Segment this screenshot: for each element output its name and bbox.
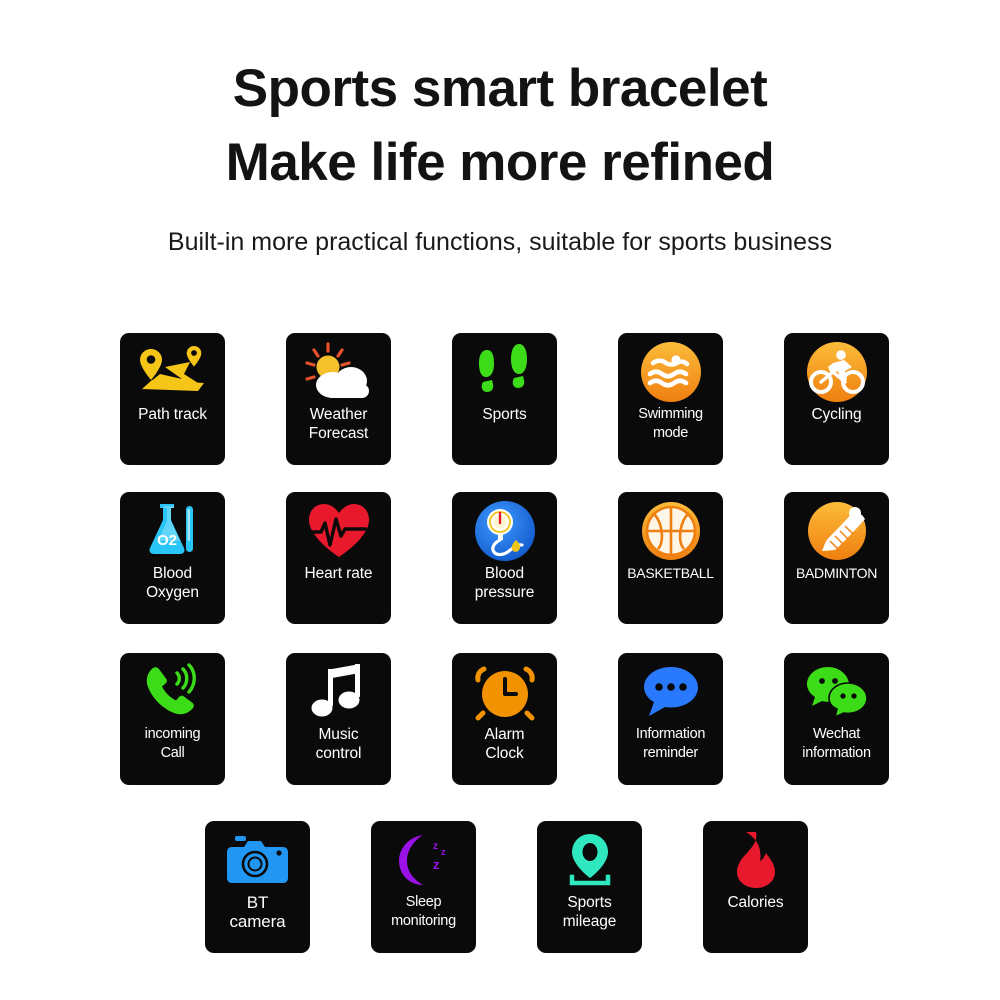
music-note-icon [286, 653, 391, 725]
tile-label: BADMINTON [784, 564, 889, 583]
tile-label-line2: control [286, 744, 391, 763]
tile-label: Blood [120, 564, 225, 583]
tile-sports[interactable]: Sports [452, 333, 557, 465]
tile-label-line2: Forecast [286, 424, 391, 443]
alarm-clock-icon [452, 653, 557, 725]
tile-label-line2: camera [205, 912, 310, 931]
tile-label-line2: Oxygen [120, 583, 225, 602]
tile-label: BASKETBALL [618, 564, 723, 583]
flame-icon [703, 821, 808, 893]
sun-cloud-icon [286, 333, 391, 405]
tile-label-line2: Call [120, 744, 225, 763]
tile-incoming-call[interactable]: incoming Call [120, 653, 225, 785]
tile-sports-mileage[interactable]: Sports mileage [537, 821, 642, 953]
tile-label: Weather [286, 405, 391, 424]
heart-pulse-icon [286, 492, 391, 564]
svg-text:z: z [441, 847, 446, 857]
tile-wechat-information[interactable]: Wechat information [784, 653, 889, 785]
tile-path-track[interactable]: Path track [120, 333, 225, 465]
tile-label: Calories [703, 893, 808, 912]
tile-heart-rate[interactable]: Heart rate [286, 492, 391, 624]
tile-label-line2: Clock [452, 744, 557, 763]
tile-label-line2: pressure [452, 583, 557, 602]
tile-label-line2: mode [618, 424, 723, 443]
map-route-pin-icon [120, 333, 225, 405]
tile-label: BT [205, 893, 310, 912]
tile-label-line2: information [784, 744, 889, 763]
tile-label: Alarm [452, 725, 557, 744]
tile-label: Wechat [784, 725, 889, 744]
cyclist-circle-icon [784, 333, 889, 405]
tile-label: Blood [452, 564, 557, 583]
feature-tile-grid: Path track [0, 0, 1000, 1000]
tile-label: Swimming [618, 405, 723, 424]
flask-o2-icon: O2 [120, 492, 225, 564]
camera-icon [205, 821, 310, 893]
tile-badminton[interactable]: BADMINTON [784, 492, 889, 624]
flask-o2-text: O2 [156, 532, 176, 549]
tile-label: Path track [120, 405, 225, 424]
tile-label-line2: monitoring [371, 912, 476, 931]
tile-swimming-mode[interactable]: Swimming mode [618, 333, 723, 465]
tile-blood-pressure[interactable]: Blood pressure [452, 492, 557, 624]
speech-bubble-icon [618, 653, 723, 725]
tile-basketball[interactable]: BASKETBALL [618, 492, 723, 624]
tile-alarm-clock[interactable]: Alarm Clock [452, 653, 557, 785]
location-pin-icon [537, 821, 642, 893]
tile-cycling[interactable]: Cycling [784, 333, 889, 465]
footprints-icon [452, 333, 557, 405]
tile-label: Heart rate [286, 564, 391, 583]
tile-label: Music [286, 725, 391, 744]
basketball-circle-icon [618, 492, 723, 564]
tile-information-reminder[interactable]: Information reminder [618, 653, 723, 785]
shuttlecock-circle-icon [784, 492, 889, 564]
tile-calories[interactable]: Calories [703, 821, 808, 953]
phone-ringing-icon [120, 653, 225, 725]
tile-weather-forecast[interactable]: Weather Forecast [286, 333, 391, 465]
tile-label: Sports [537, 893, 642, 912]
tile-music-control[interactable]: Music control [286, 653, 391, 785]
tile-label-line2: reminder [618, 744, 723, 763]
svg-text:z: z [433, 841, 438, 852]
poster-page: Sports smart bracelet Make life more ref… [0, 0, 1000, 1000]
wechat-bubbles-icon [784, 653, 889, 725]
tile-sleep-monitoring[interactable]: z z z Sleep monitoring [371, 821, 476, 953]
pressure-gauge-circle-icon [452, 492, 557, 564]
tile-label: Cycling [784, 405, 889, 424]
tile-bt-camera[interactable]: BT camera [205, 821, 310, 953]
tile-label-line2: mileage [537, 912, 642, 931]
tile-label: incoming [120, 725, 225, 744]
tile-label: Sports [452, 405, 557, 424]
moon-zzz-icon: z z z [371, 821, 476, 893]
tile-label: Sleep [371, 893, 476, 912]
svg-text:z: z [433, 857, 440, 872]
tile-label: Information [618, 725, 723, 744]
swimmer-circle-icon [618, 333, 723, 405]
tile-blood-oxygen[interactable]: O2 Blood Oxygen [120, 492, 225, 624]
